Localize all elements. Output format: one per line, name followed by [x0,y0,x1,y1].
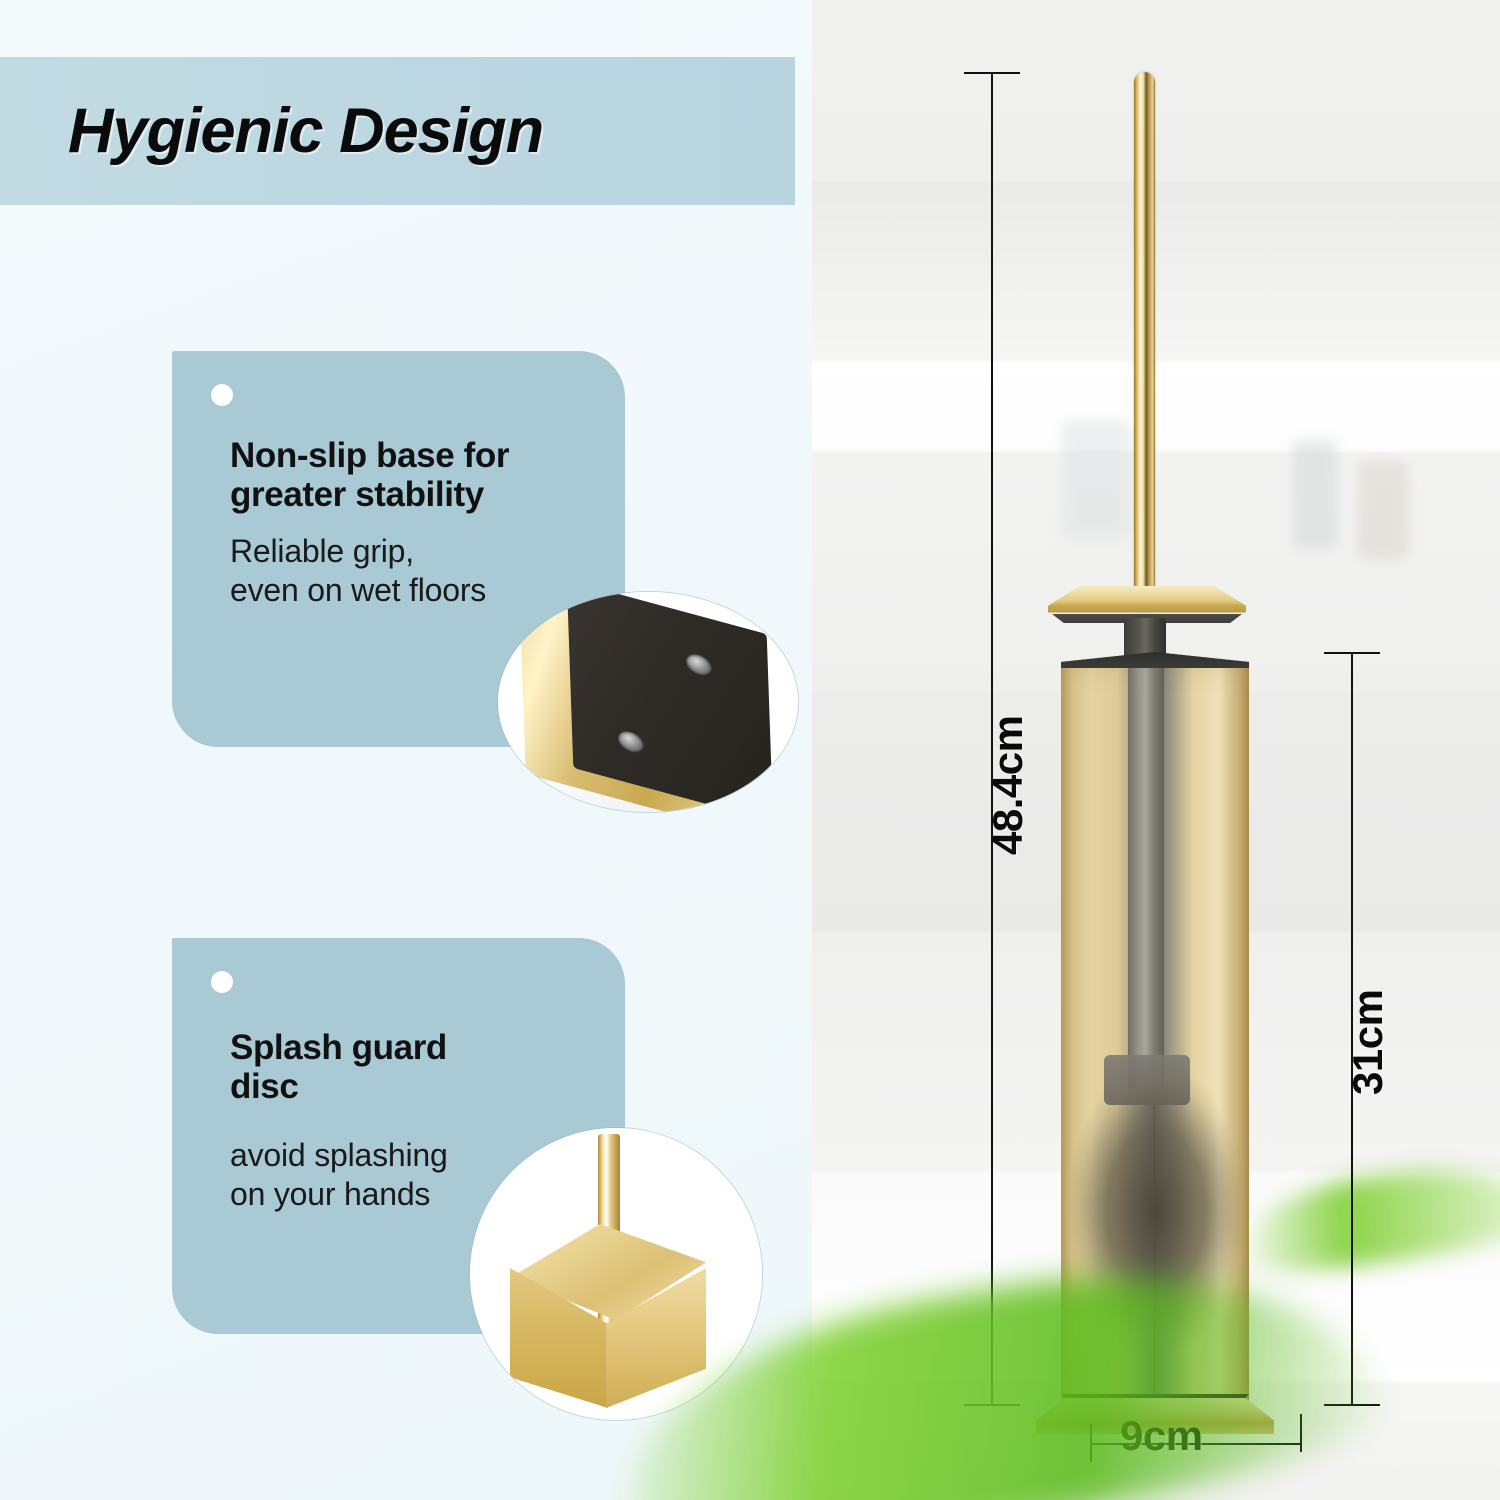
product-base-closeup-image [498,592,798,812]
title-banner: Hygienic Design [0,57,795,205]
dot-icon [211,971,233,993]
background-object [1292,440,1338,550]
background-object [1062,420,1132,540]
closeup-backdrop [498,592,798,812]
infographic-canvas: Hygienic Design Non-slip base for greate… [0,0,1500,1500]
feature-card-body: Non-slip base for greater stability Reli… [230,436,607,610]
page-title: Hygienic Design [0,95,543,167]
left-info-panel: Hygienic Design Non-slip base for greate… [0,0,812,1500]
product-photo-panel: 48.4cm 31cm 9cm [812,0,1500,1500]
dimension-label-holder-height: 31cm [1344,990,1392,1095]
dot-icon [211,384,233,406]
brush-rod-inside [1128,668,1164,1088]
dimension-label-total-height: 48.4cm [984,716,1032,855]
feature-heading: Splash guard disc [230,1028,607,1106]
feature-heading: Non-slip base for greater stability [230,436,607,514]
background-object [1357,460,1409,560]
brush-handle [1134,72,1155,612]
leaf-accent-icon [1235,1155,1500,1282]
